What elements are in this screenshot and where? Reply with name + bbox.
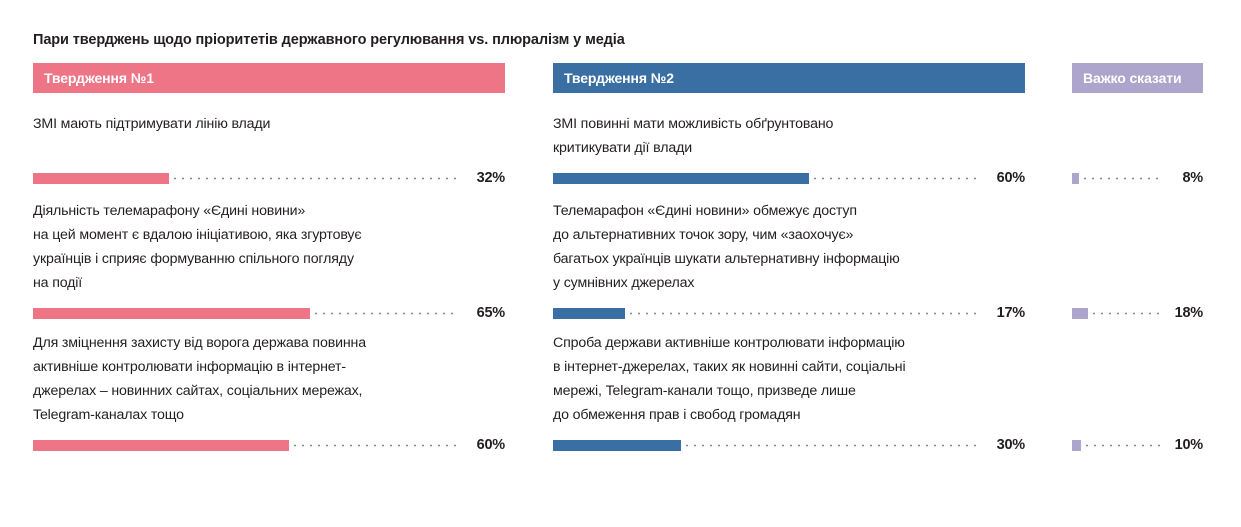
statement-line: ЗМІ повинні мати можливість обґрунтовано — [553, 112, 1025, 136]
hard-to-say-bar-track — [1072, 308, 1163, 319]
page-title: Пари тверджень щодо пріоритетів державно… — [33, 32, 625, 48]
hard-to-say-bar-dots — [1090, 308, 1163, 319]
column-header-hard-to-say: Важко сказати — [1072, 63, 1203, 93]
statement2-bar-dots — [683, 440, 979, 451]
hard-to-say-bar-fill — [1072, 173, 1079, 184]
hard-to-say-bar-group: 8% — [1072, 168, 1203, 188]
statement2-bar-value: 30% — [979, 437, 1025, 453]
statement2-cell: Спроба держави активніше контролювати ін… — [553, 331, 1025, 427]
statement1-text: Діяльність телемарафону «Єдині новини»на… — [33, 199, 505, 295]
statement-line: в інтернет-джерелах, таких як новинні са… — [553, 355, 1025, 379]
statement2-bar-dots — [627, 308, 979, 319]
statement2-bar-fill — [553, 440, 681, 451]
statement-line: до альтернативних точок зору, чим «заохо… — [553, 223, 1025, 247]
statement1-bar-track — [33, 308, 459, 319]
statement-line: ЗМІ мають підтримувати лінію влади — [33, 112, 505, 136]
statement-line: багатьох українців шукати альтернативну … — [553, 247, 1025, 271]
statement2-bar-track — [553, 308, 979, 319]
column-header-statement2: Твердження №2 — [553, 63, 1025, 93]
statement-pair-row: Для зміцнення захисту від ворога держава… — [0, 331, 1241, 455]
statement2-text: Спроба держави активніше контролювати ін… — [553, 331, 1025, 427]
hard-to-say-bar-track — [1072, 173, 1163, 184]
statement1-cell: Діяльність телемарафону «Єдині новини»на… — [33, 199, 505, 295]
statement-line: українців і сприяє формуванню спільного … — [33, 247, 505, 271]
statement2-bar-dots — [811, 173, 979, 184]
statement1-text: Для зміцнення захисту від ворога держава… — [33, 331, 505, 427]
statement1-bar-group: 32% — [33, 168, 505, 188]
statement1-bar-group: 60% — [33, 435, 505, 455]
statement-line: у сумнівних джерелах — [553, 271, 1025, 295]
statement-pair-row: Діяльність телемарафону «Єдині новини»на… — [0, 199, 1241, 323]
statement2-bar-track — [553, 173, 979, 184]
statement1-bar-dots — [171, 173, 459, 184]
statement1-bar-group: 65% — [33, 303, 505, 323]
statement1-bar-value: 65% — [459, 305, 505, 321]
chart-page: Пари тверджень щодо пріоритетів державно… — [0, 0, 1241, 527]
statement1-bar-dots — [291, 440, 459, 451]
statement-line: Telegram-каналах тощо — [33, 403, 505, 427]
statement-line: на події — [33, 271, 505, 295]
statement2-bar-fill — [553, 173, 809, 184]
statement2-text: ЗМІ повинні мати можливість обґрунтовано… — [553, 112, 1025, 160]
column-header-statement1-label: Твердження №1 — [44, 70, 154, 86]
statement-line: мережі, Telegram-канали тощо, призведе л… — [553, 379, 1025, 403]
statement1-bar-dots — [312, 308, 459, 319]
statement-pair-row: ЗМІ мають підтримувати лінію влади 32% З… — [0, 112, 1241, 188]
statement-line: джерелах – новинних сайтах, соціальних м… — [33, 379, 505, 403]
statement1-cell: ЗМІ мають підтримувати лінію влади 32% — [33, 112, 505, 136]
hard-to-say-bar-value: 18% — [1163, 305, 1203, 321]
hard-to-say-bar-track — [1072, 440, 1163, 451]
statement2-bar-fill — [553, 308, 625, 319]
hard-to-say-bar-value: 8% — [1163, 170, 1203, 186]
statement2-bar-value: 60% — [979, 170, 1025, 186]
statement2-bar-group: 30% — [553, 435, 1025, 455]
hard-to-say-bar-group: 10% — [1072, 435, 1203, 455]
statement-line: до обмеження прав і свобод громадян — [553, 403, 1025, 427]
hard-to-say-bar-fill — [1072, 308, 1088, 319]
hard-to-say-bar-group: 18% — [1072, 303, 1203, 323]
statement2-bar-group: 17% — [553, 303, 1025, 323]
statement-line: активніше контролювати інформацію в інте… — [33, 355, 505, 379]
statement1-bar-value: 32% — [459, 170, 505, 186]
statement1-bar-track — [33, 440, 459, 451]
statement2-bar-value: 17% — [979, 305, 1025, 321]
statement1-cell: Для зміцнення захисту від ворога держава… — [33, 331, 505, 427]
statement2-text: Телемарафон «Єдині новини» обмежує досту… — [553, 199, 1025, 295]
statement2-bar-group: 60% — [553, 168, 1025, 188]
statement1-bar-value: 60% — [459, 437, 505, 453]
statement-line: Діяльність телемарафону «Єдині новини» — [33, 199, 505, 223]
statement-line: критикувати дії влади — [553, 136, 1025, 160]
column-header-hard-to-say-label: Важко сказати — [1083, 70, 1182, 86]
statement1-bar-fill — [33, 173, 169, 184]
statement-line: Для зміцнення захисту від ворога держава… — [33, 331, 505, 355]
statement1-text: ЗМІ мають підтримувати лінію влади — [33, 112, 505, 136]
statement-line: Телемарафон «Єдині новини» обмежує досту… — [553, 199, 1025, 223]
hard-to-say-bar-dots — [1083, 440, 1163, 451]
statement-line: Спроба держави активніше контролювати ін… — [553, 331, 1025, 355]
hard-to-say-bar-fill — [1072, 440, 1081, 451]
column-header-statement1: Твердження №1 — [33, 63, 505, 93]
statement2-bar-track — [553, 440, 979, 451]
statement1-bar-track — [33, 173, 459, 184]
column-header-statement2-label: Твердження №2 — [564, 70, 674, 86]
statement1-bar-fill — [33, 308, 310, 319]
statement2-cell: ЗМІ повинні мати можливість обґрунтовано… — [553, 112, 1025, 160]
statement1-bar-fill — [33, 440, 289, 451]
hard-to-say-bar-dots — [1081, 173, 1163, 184]
hard-to-say-bar-value: 10% — [1163, 437, 1203, 453]
statement-line: на цей момент є вдалою ініціативою, яка … — [33, 223, 505, 247]
statement2-cell: Телемарафон «Єдині новини» обмежує досту… — [553, 199, 1025, 295]
